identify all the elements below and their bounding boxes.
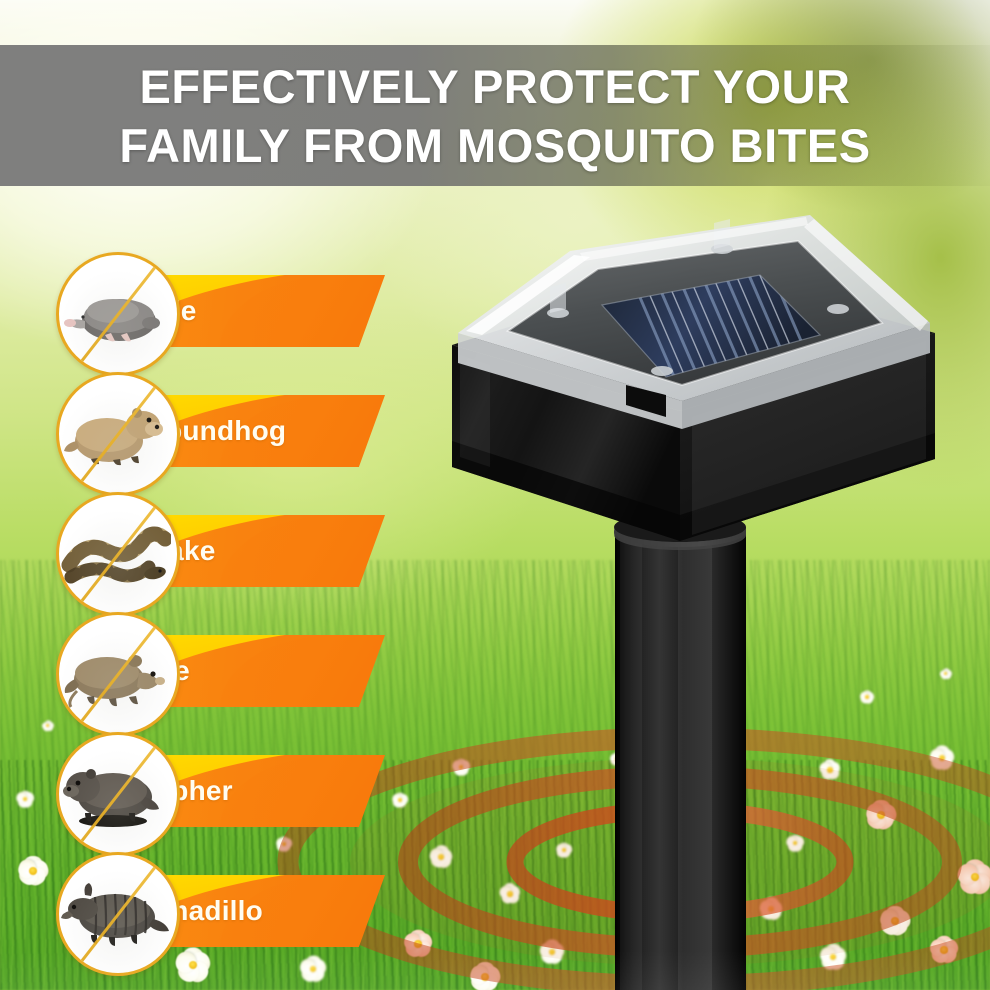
solar-pest-repeller-device [430,205,960,990]
armadillo-icon[interactable] [56,852,180,976]
pest-list: Mole Groundhog [0,0,440,990]
pest-row[interactable]: Vole [0,612,440,732]
snake-icon[interactable] [56,492,180,616]
pest-row[interactable]: Armadillo [0,852,440,972]
mole-icon[interactable] [56,252,180,376]
gopher-icon[interactable] [56,732,180,856]
product-banner: EFFECTIVELY PROTECT YOUR FAMILY FROM MOS… [0,0,990,990]
pest-row[interactable]: Mole [0,252,440,372]
pest-row[interactable]: Gopher [0,732,440,852]
pest-row[interactable]: Snake [0,492,440,612]
groundhog-icon[interactable] [56,372,180,496]
device-stake [615,527,746,990]
vole-icon[interactable] [56,612,180,736]
pest-row[interactable]: Groundhog [0,372,440,492]
